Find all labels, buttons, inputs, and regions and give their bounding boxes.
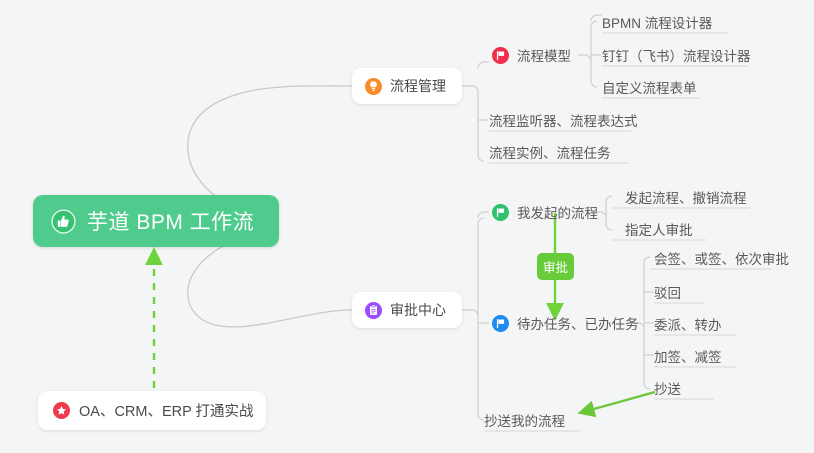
link-pm-trunk: [462, 86, 484, 161]
lightbulb-icon: [365, 78, 382, 95]
node-bpmn-designer-label: BPMN 流程设计器: [602, 12, 712, 32]
flag-icon-green: [492, 204, 509, 221]
node-bottom-note-label: OA、CRM、ERP 打通实战: [79, 400, 254, 421]
node-countersign-label: 会签、或签、依次审批: [654, 248, 789, 268]
node-add-remove-sign-label: 加签、减签: [654, 346, 722, 366]
node-process-instance-label: 流程实例、流程任务: [489, 142, 611, 162]
flag-icon-red: [492, 47, 509, 64]
node-custom-form[interactable]: 自定义流程表单: [602, 73, 697, 101]
node-approval-center-label: 审批中心: [390, 300, 446, 320]
node-start-cancel-process[interactable]: 发起流程、撤销流程: [625, 183, 747, 211]
node-cc-label: 抄送: [654, 378, 681, 398]
link-mi-trunk-up: [606, 196, 612, 218]
node-dingtalk-designer[interactable]: 钉钉（飞书）流程设计器: [602, 41, 751, 69]
link-model-child-1: [591, 15, 602, 21]
root-node[interactable]: 芋道 BPM 工作流: [33, 195, 279, 247]
node-my-initiated[interactable]: 我发起的流程: [492, 198, 598, 226]
link-ac-branch-initiated: [478, 212, 489, 218]
node-process-listener[interactable]: 流程监听器、流程表达式: [489, 106, 638, 134]
node-my-initiated-label: 我发起的流程: [517, 202, 598, 222]
node-approval-center[interactable]: 审批中心: [352, 292, 462, 328]
node-cc-to-me[interactable]: 抄送我的流程: [484, 406, 565, 434]
node-assign-approver-label: 指定人审批: [625, 219, 693, 239]
node-process-model-label: 流程模型: [517, 45, 571, 65]
node-process-management-label: 流程管理: [390, 76, 446, 96]
node-assign-approver[interactable]: 指定人审批: [625, 215, 693, 243]
link-ac-trunk: [462, 310, 484, 420]
node-process-management[interactable]: 流程管理: [352, 68, 462, 104]
flag-icon-blue: [492, 315, 509, 332]
node-add-remove-sign[interactable]: 加签、减签: [654, 342, 722, 370]
node-custom-form-label: 自定义流程表单: [602, 77, 697, 97]
arrow-cc-to-process: [583, 392, 655, 412]
mindmap-canvas: 芋道 BPM 工作流 流程管理 流程模型 BPMN 流程设计器 钉钉（飞书）流程…: [0, 0, 814, 453]
node-cc-to-me-label: 抄送我的流程: [484, 410, 565, 430]
node-dingtalk-designer-label: 钉钉（飞书）流程设计器: [602, 45, 751, 65]
node-bpmn-designer[interactable]: BPMN 流程设计器: [602, 8, 712, 36]
node-start-cancel-process-label: 发起流程、撤销流程: [625, 187, 747, 207]
node-bottom-note[interactable]: OA、CRM、ERP 打通实战: [38, 391, 266, 430]
node-todo-done-tasks[interactable]: 待办任务、已办任务: [492, 309, 639, 337]
node-process-instance[interactable]: 流程实例、流程任务: [489, 138, 611, 166]
thumbs-up-icon: [51, 209, 76, 234]
node-reject-label: 驳回: [654, 282, 681, 302]
node-cc[interactable]: 抄送: [654, 374, 681, 402]
node-process-listener-label: 流程监听器、流程表达式: [489, 110, 638, 130]
clipboard-icon: [365, 302, 382, 319]
node-process-model[interactable]: 流程模型: [492, 41, 571, 69]
approval-chip[interactable]: 审批: [537, 253, 574, 280]
link-ac-trunk-up: [478, 218, 484, 316]
node-countersign[interactable]: 会签、或签、依次审批: [654, 244, 789, 272]
node-delegate-transfer-label: 委派、转办: [654, 314, 722, 334]
link-pm-branch-model: [478, 62, 489, 68]
node-todo-done-tasks-label: 待办任务、已办任务: [517, 313, 639, 333]
node-reject[interactable]: 驳回: [654, 278, 681, 306]
approval-chip-label: 审批: [543, 257, 568, 276]
link-td-trunk-up: [644, 257, 650, 329]
root-label: 芋道 BPM 工作流: [87, 206, 254, 236]
link-model-trunk: [578, 55, 597, 87]
node-delegate-transfer[interactable]: 委派、转办: [654, 310, 722, 338]
star-icon: [53, 402, 70, 419]
